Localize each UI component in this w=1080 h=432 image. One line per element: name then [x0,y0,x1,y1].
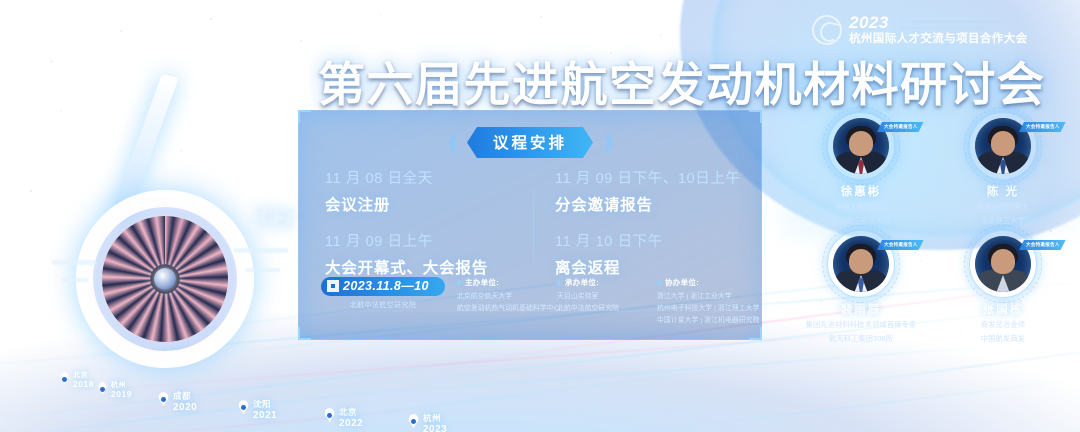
glitch-bar [62,278,88,282]
speaker-badge: 大会特邀报告人 [1019,240,1066,250]
timeline-year: 2023 [423,424,447,432]
agenda-column-1: 11 月 08 日全天 会议注册 11 月 09 日上午 大会开幕式、大会报告 [299,167,531,293]
timeline-city: 沈阳 [253,400,277,410]
agenda-item-name: 会议注册 [325,193,513,215]
timeline-year: 2021 [253,410,277,422]
speaker-photo-wrap: 大会特邀报告人 [833,118,889,174]
speaker-name: 陈 光 [987,183,1019,199]
panel-corner [298,110,311,123]
timeline-pin-text: 沈阳2021 [253,400,277,421]
timeline-pin: 沈阳2021 [238,400,277,421]
agenda-divider [533,169,534,281]
star-dot [30,190,32,192]
organizer-title: 主办单位: [457,277,545,288]
organizer-title-text: 主办单位: [465,277,499,288]
speaker-badge: 大会特邀报告人 [877,240,924,250]
agenda-list: 11 月 08 日全天 会议注册 11 月 09 日上午 大会开幕式、大会报告 … [299,167,761,293]
star-dot [420,26,421,27]
timeline-city: 杭州 [423,414,447,424]
date-venue-block: 2023.11.8—10 北航中法航空研究院 [321,277,445,310]
timeline-year: 2022 [339,418,363,430]
map-pin-icon [238,400,249,414]
diamond-bullet-icon [656,280,662,286]
speaker-photo-wrap: 大会特邀报告人 [833,236,889,292]
timeline-pin: 杭州2023 [408,414,447,432]
timeline-pin: 北京2018 [60,372,94,390]
star-dot [540,16,542,18]
agenda-item-date: 11 月 10 日下午 [555,230,743,251]
avatar-face [991,249,1015,274]
agenda-column-2: 11 月 09 日下午、10日上午 分会邀请报告 11 月 10 日下午 离会返… [531,167,761,293]
glitch-bar [52,260,96,265]
speaker-title: 中国工程院院士 [835,202,887,213]
agenda-panel: 《 议程安排 》 11 月 08 日全天 会议注册 11 月 09 日上午 大会… [298,110,762,340]
organizer-title: 承办单位: [557,277,645,288]
agenda-item-date: 11 月 08 日全天 [325,167,513,188]
map-pin-icon [158,392,169,406]
agenda-item-date: 11 月 09 日上午 [325,230,513,251]
city-timeline: 北京2018杭州2019成都2020沈阳2021北京2022杭州2023 [0,322,1080,432]
conference-banner: 2023 2023 HANGZHOU INTERNATIONAL HUMAN R… [0,0,1080,432]
star-dot [210,18,212,20]
star-dot [250,60,251,61]
agenda-item: 11 月 10 日下午 离会返程 [555,230,743,278]
swirl-logo-icon [812,15,842,45]
page-title: 第六届先进航空发动机材料研讨会 [318,46,1046,115]
timeline-pin-text: 杭州2023 [423,414,447,432]
chevron-left-icon: 《 [440,130,456,156]
speaker-name: 裴雨辰 [841,301,882,317]
speaker-card: 大会特邀报告人 陈 光 中国科学院院士 南京理工大学 [932,118,1074,236]
organizer-line: 北航中法航空研究院 [557,303,645,315]
agenda-heading: 议程安排 [467,127,593,158]
speaker-photo-wrap: 大会特邀报告人 [975,118,1031,174]
avatar-face [991,131,1015,156]
edition-badge: TH [58,72,298,342]
organizer-line: 北京航空航天大学 [457,291,545,303]
timeline-pin-text: 北京2022 [339,408,363,429]
qr-code-icon [327,280,339,292]
agenda-item-name: 大会开幕式、大会报告 [325,256,513,278]
agenda-item: 11 月 09 日下午、10日上午 分会邀请报告 [555,167,743,215]
diamond-bullet-icon [456,280,462,286]
panel-footer: 2023.11.8—10 北航中法航空研究院 主办单位: 北京航空航天大学 航空… [299,277,761,327]
edition-suffix: TH [254,203,293,235]
timeline-pin: 成都2020 [158,392,197,413]
star-dot [660,34,662,36]
timeline-pin: 杭州2019 [98,382,132,400]
timeline-pin-text: 成都2020 [173,392,197,413]
glitch-bar [234,248,288,253]
organizer-title: 协办单位: [657,277,745,288]
logo-chinese-name: 杭州国际人才交流与项目合作大会 [849,34,1028,46]
organizer-group-undertaker: 承办单位: 天目山实验室 北航中法航空研究院 [557,277,645,315]
organizer-title-text: 协办单位: [665,277,699,288]
timeline-year: 2018 [73,380,94,390]
agenda-item: 11 月 08 日全天 会议注册 [325,167,513,215]
timeline-pin-text: 北京2018 [73,372,94,390]
speaker-name: 徐惠彬 [841,183,882,199]
speaker-photo-wrap: 大会特邀报告人 [975,236,1031,292]
organizer-line: 杭州电子科技大学 | 浙江理工大学 [657,303,745,315]
glitch-bar [246,268,280,272]
conference-logo: 2023 2023 HANGZHOU INTERNATIONAL HUMAN R… [812,14,1028,46]
agenda-item: 11 月 09 日上午 大会开幕式、大会报告 [325,230,513,278]
map-pin-icon [324,408,335,422]
organizer-group-host: 主办单位: 北京航空航天大学 航空发动机热气动机基础科学中心 [457,277,545,315]
speaker-card: 大会特邀报告人 徐惠彬 中国工程院院士 北京航空航天大学 [790,118,932,236]
agenda-header: 《 议程安排 》 [299,127,761,158]
star-dot [50,60,53,63]
speaker-title: 中国科学院院士 [977,202,1029,213]
timeline-pin: 北京2022 [324,408,363,429]
speakers-grid: 大会特邀报告人 徐惠彬 中国工程院院士 北京航空航天大学 大会特邀报告人 陈 光 [790,118,1074,354]
map-pin-icon [98,382,107,394]
agenda-item-date: 11 月 09 日下午、10日上午 [555,167,743,188]
chevron-right-icon: 》 [604,130,620,156]
timeline-city: 北京 [339,408,363,418]
star-dot [300,40,302,42]
date-chip: 2023.11.8—10 [321,277,445,296]
organizer-line: 浙江大学 | 浙江工业大学 [657,291,745,303]
diamond-bullet-icon [556,280,562,286]
agenda-item-name: 分会邀请报告 [555,193,743,215]
timeline-pin-text: 杭州2019 [111,382,132,400]
timeline-year: 2020 [173,402,197,414]
logo-english-subtitle: 2023 HANGZHOU INTERNATIONAL HUMAN RESOUR… [895,20,1007,31]
speaker-badge: 大会特邀报告人 [877,122,924,132]
map-pin-icon [60,372,69,384]
map-pin-icon [408,414,419,428]
organizer-title-text: 承办单位: [565,277,599,288]
organizer-group-cohost: 协办单位: 浙江大学 | 浙江工业大学 杭州电子科技大学 | 浙江理工大学 中国… [657,277,745,327]
timeline-year: 2019 [111,390,132,400]
timeline-city: 成都 [173,392,197,402]
agenda-item-name: 离会返程 [555,256,743,278]
logo-year: 2023 [849,14,889,31]
organizer-line: 航空发动机热气动机基础科学中心 [457,303,545,315]
avatar-face [849,249,873,274]
avatar-face [849,131,873,156]
speaker-badge: 大会特邀报告人 [1019,122,1066,132]
star-dot [380,14,382,16]
venue-name: 北航中法航空研究院 [321,300,445,310]
organizer-line: 天目山实验室 [557,291,645,303]
conference-dates: 2023.11.8—10 [343,279,429,293]
star-dot [470,34,471,35]
star-dot [120,30,122,32]
speaker-name: 张国栋 [983,301,1024,317]
